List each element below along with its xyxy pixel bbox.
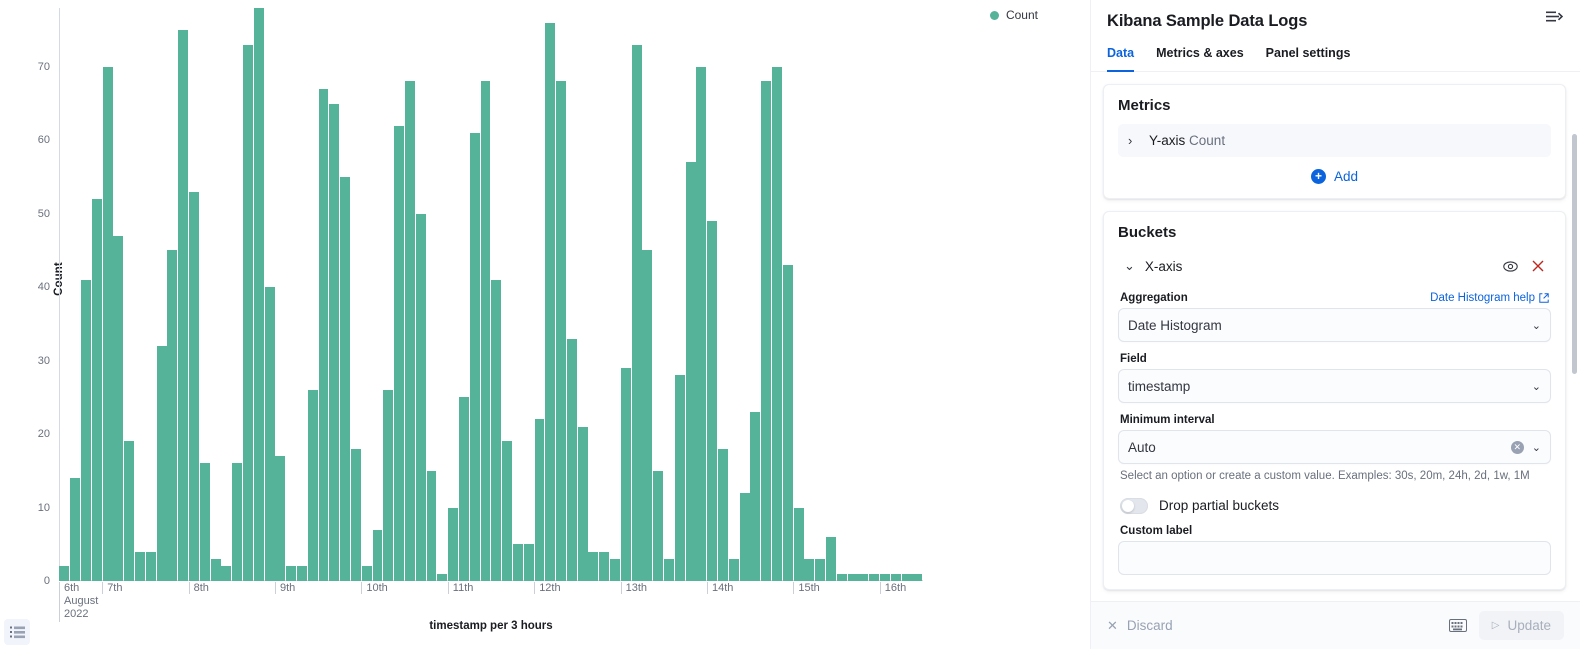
drop-partial-buckets-toggle[interactable] (1120, 498, 1148, 514)
eye-icon[interactable] (1501, 257, 1519, 275)
y-axis-tick-label: 60 (38, 134, 50, 146)
bar[interactable] (642, 250, 652, 581)
chevron-down-icon: ⌄ (1124, 258, 1135, 274)
x-axis-tick-label: 10th (361, 582, 387, 594)
x-axis-tick-label: 12th (534, 582, 560, 594)
metric-axis-label: Y-axis (1149, 133, 1185, 148)
bar[interactable] (275, 456, 285, 581)
aggregation-label: Aggregation (1120, 292, 1188, 304)
y-axis-tick-label: 40 (38, 281, 50, 293)
custom-label-label: Custom label (1120, 525, 1551, 537)
x-axis-tick-label: 6th August 2022 (59, 582, 98, 622)
bar[interactable] (772, 67, 782, 581)
bar[interactable] (675, 375, 685, 581)
bar[interactable] (459, 397, 469, 581)
editor-footer: ✕ Discard (1091, 601, 1580, 649)
bar[interactable] (610, 559, 620, 581)
field-label: Field (1120, 353, 1551, 365)
bar[interactable] (167, 250, 177, 581)
bar[interactable] (340, 177, 350, 581)
bar[interactable] (912, 574, 922, 581)
x-axis-tick-label: 13th (621, 582, 647, 594)
bar[interactable] (427, 471, 437, 581)
bar[interactable] (394, 126, 404, 581)
bar[interactable] (70, 478, 80, 581)
y-axis-tick-label: 70 (38, 61, 50, 73)
collapse-panel-icon[interactable] (1544, 6, 1564, 26)
x-axis-tick-label: 9th (275, 582, 295, 594)
bar[interactable] (718, 449, 728, 581)
editor-body: Metrics › Y-axis Count + Add Buckets ⌄ (1091, 72, 1580, 601)
bar[interactable] (578, 427, 588, 581)
metric-agg-value: Count (1189, 133, 1225, 148)
bar[interactable] (632, 45, 642, 581)
bar[interactable] (351, 449, 361, 581)
editor-tabs: Data Metrics & axes Panel settings (1091, 40, 1580, 72)
bar[interactable] (794, 508, 804, 581)
x-axis-tick-label: 8th (189, 582, 209, 594)
field-select[interactable]: timestamp ⌄ (1118, 369, 1551, 403)
bar[interactable] (157, 346, 167, 581)
bar[interactable] (761, 81, 771, 581)
bar[interactable] (837, 574, 847, 581)
bar[interactable] (556, 81, 566, 581)
add-metric-label: Add (1334, 169, 1358, 184)
bar[interactable] (880, 574, 890, 581)
bar[interactable] (696, 67, 706, 581)
bar[interactable] (524, 544, 534, 581)
bar[interactable] (103, 67, 113, 581)
bar[interactable] (124, 441, 134, 581)
bar[interactable] (92, 199, 102, 581)
metric-row-y-axis[interactable]: › Y-axis Count (1118, 124, 1551, 157)
chart-area: Count 010203040506070 6th August 20227th… (0, 0, 1090, 649)
plus-circle-icon: + (1311, 169, 1326, 184)
bar-series[interactable] (59, 8, 923, 581)
bar[interactable] (740, 493, 750, 581)
bar[interactable] (869, 574, 879, 581)
bar[interactable] (664, 559, 674, 581)
x-axis-tick-label: 15th (793, 582, 819, 594)
tab-data[interactable]: Data (1107, 40, 1134, 72)
bar[interactable] (146, 552, 156, 581)
bar[interactable] (448, 508, 458, 581)
x-axis-title: timestamp per 3 hours (59, 620, 923, 632)
chevron-down-icon: ⌄ (1532, 441, 1541, 454)
toggle-knob (1122, 500, 1134, 512)
page-title: Kibana Sample Data Logs (1107, 12, 1564, 31)
bar[interactable] (502, 441, 512, 581)
bucket-axis-label: X-axis (1145, 259, 1491, 274)
bar[interactable] (81, 280, 91, 581)
visualization-pane: Count Count 010203040506070 6th August 2… (0, 0, 1090, 649)
minimum-interval-hint: Select an option or create a custom valu… (1120, 469, 1549, 485)
bar[interactable] (567, 339, 577, 581)
tab-metrics-and-axes[interactable]: Metrics & axes (1156, 40, 1244, 72)
bar[interactable] (513, 544, 523, 581)
bar[interactable] (286, 566, 296, 581)
bar[interactable] (470, 133, 480, 581)
bar[interactable] (383, 390, 393, 581)
buckets-card: Buckets ⌄ X-axis (1103, 211, 1566, 590)
footer-actions: ▷ Update (1449, 611, 1564, 640)
x-axis-tick-label: 14th (707, 582, 733, 594)
close-icon[interactable] (1529, 257, 1547, 275)
drop-partial-buckets-row[interactable]: Drop partial buckets (1120, 498, 1549, 514)
bar[interactable] (535, 419, 545, 581)
bar[interactable] (405, 81, 415, 581)
bar[interactable] (178, 30, 188, 581)
bar[interactable] (545, 23, 555, 581)
y-axis-tick-label: 50 (38, 208, 50, 220)
bar[interactable] (200, 463, 210, 581)
bar[interactable] (826, 537, 836, 581)
bar[interactable] (729, 559, 739, 581)
bar[interactable] (686, 162, 696, 581)
bar[interactable] (902, 574, 912, 581)
bar[interactable] (232, 463, 242, 581)
chevron-right-icon: › (1128, 133, 1139, 148)
bar[interactable] (221, 566, 231, 581)
bar[interactable] (373, 530, 383, 581)
aggregation-label-row: Aggregation Date Histogram help (1120, 292, 1549, 304)
y-axis-tick-label: 0 (44, 575, 50, 587)
external-link-icon (1539, 293, 1549, 303)
bar[interactable] (599, 552, 609, 581)
add-metric-button[interactable]: + Add (1118, 169, 1551, 184)
x-axis-tick-label: 16th (880, 582, 906, 594)
bar[interactable] (653, 471, 663, 581)
bar[interactable] (308, 390, 318, 581)
bar[interactable] (491, 280, 501, 581)
metrics-heading: Metrics (1118, 97, 1551, 114)
bar[interactable] (416, 214, 426, 581)
bar[interactable] (189, 192, 199, 581)
bar[interactable] (254, 8, 264, 581)
bar[interactable] (243, 45, 253, 581)
minimum-interval-label: Minimum interval (1120, 414, 1551, 426)
bar[interactable] (59, 566, 69, 581)
bar[interactable] (297, 566, 307, 581)
editor-panel: Kibana Sample Data Logs Data Metrics & a… (1090, 0, 1580, 649)
bar[interactable] (481, 81, 491, 581)
bar[interactable] (815, 559, 825, 581)
drop-partial-buckets-label: Drop partial buckets (1159, 498, 1279, 513)
close-icon: ✕ (1107, 618, 1118, 634)
date-histogram-help-link[interactable]: Date Histogram help (1430, 292, 1549, 304)
aggregation-value: Date Histogram (1128, 318, 1532, 333)
bar[interactable] (848, 574, 858, 581)
bar[interactable] (319, 89, 329, 581)
field-value: timestamp (1128, 379, 1532, 394)
bar[interactable] (265, 287, 275, 581)
x-axis-tick-label: 11th (448, 582, 474, 594)
aggregation-select[interactable]: Date Histogram ⌄ (1118, 308, 1551, 342)
bucket-row-x-axis[interactable]: ⌄ X-axis (1118, 251, 1551, 281)
y-axis-tick-label: 30 (38, 355, 50, 367)
bar[interactable] (437, 574, 447, 581)
tab-panel-settings[interactable]: Panel settings (1266, 40, 1351, 72)
minimum-interval-combobox[interactable]: Auto ✕ ⌄ (1118, 430, 1551, 464)
play-icon: ▷ (1492, 620, 1500, 631)
bar[interactable] (804, 559, 814, 581)
buckets-heading: Buckets (1118, 224, 1551, 241)
help-link-label: Date Histogram help (1430, 292, 1535, 304)
clear-icon[interactable]: ✕ (1511, 441, 1524, 454)
metrics-card: Metrics › Y-axis Count + Add (1103, 84, 1566, 199)
bar[interactable] (588, 552, 598, 581)
chevron-down-icon: ⌄ (1532, 319, 1541, 332)
bar[interactable] (707, 221, 717, 581)
plot-region: Count 010203040506070 (59, 8, 923, 581)
bar[interactable] (362, 566, 372, 581)
discard-button[interactable]: ✕ Discard (1107, 618, 1173, 634)
bar[interactable] (135, 552, 145, 581)
minimum-interval-value: Auto (1128, 440, 1511, 455)
bar[interactable] (858, 574, 868, 581)
legend-toggle-button[interactable] (4, 619, 30, 645)
chevron-down-icon: ⌄ (1532, 380, 1541, 393)
editor-scrollbar[interactable] (1572, 134, 1577, 374)
update-label: Update (1507, 618, 1551, 633)
bar[interactable] (891, 574, 901, 581)
kibana-visualize-editor: Count Count 010203040506070 6th August 2… (0, 0, 1584, 649)
editor-header: Kibana Sample Data Logs (1091, 0, 1580, 31)
bar[interactable] (750, 412, 760, 581)
bar[interactable] (113, 236, 123, 581)
keyboard-icon[interactable] (1449, 619, 1467, 632)
bar[interactable] (783, 265, 793, 581)
custom-label-input[interactable] (1118, 541, 1551, 575)
update-button[interactable]: ▷ Update (1479, 611, 1564, 640)
x-axis-tick-label: 7th (102, 582, 122, 594)
y-axis-tick-label: 10 (38, 502, 50, 514)
discard-label: Discard (1127, 618, 1173, 633)
bar[interactable] (329, 104, 339, 582)
list-icon (10, 626, 25, 639)
bar[interactable] (621, 368, 631, 581)
y-axis-tick-label: 20 (38, 428, 50, 440)
bar[interactable] (211, 559, 221, 581)
